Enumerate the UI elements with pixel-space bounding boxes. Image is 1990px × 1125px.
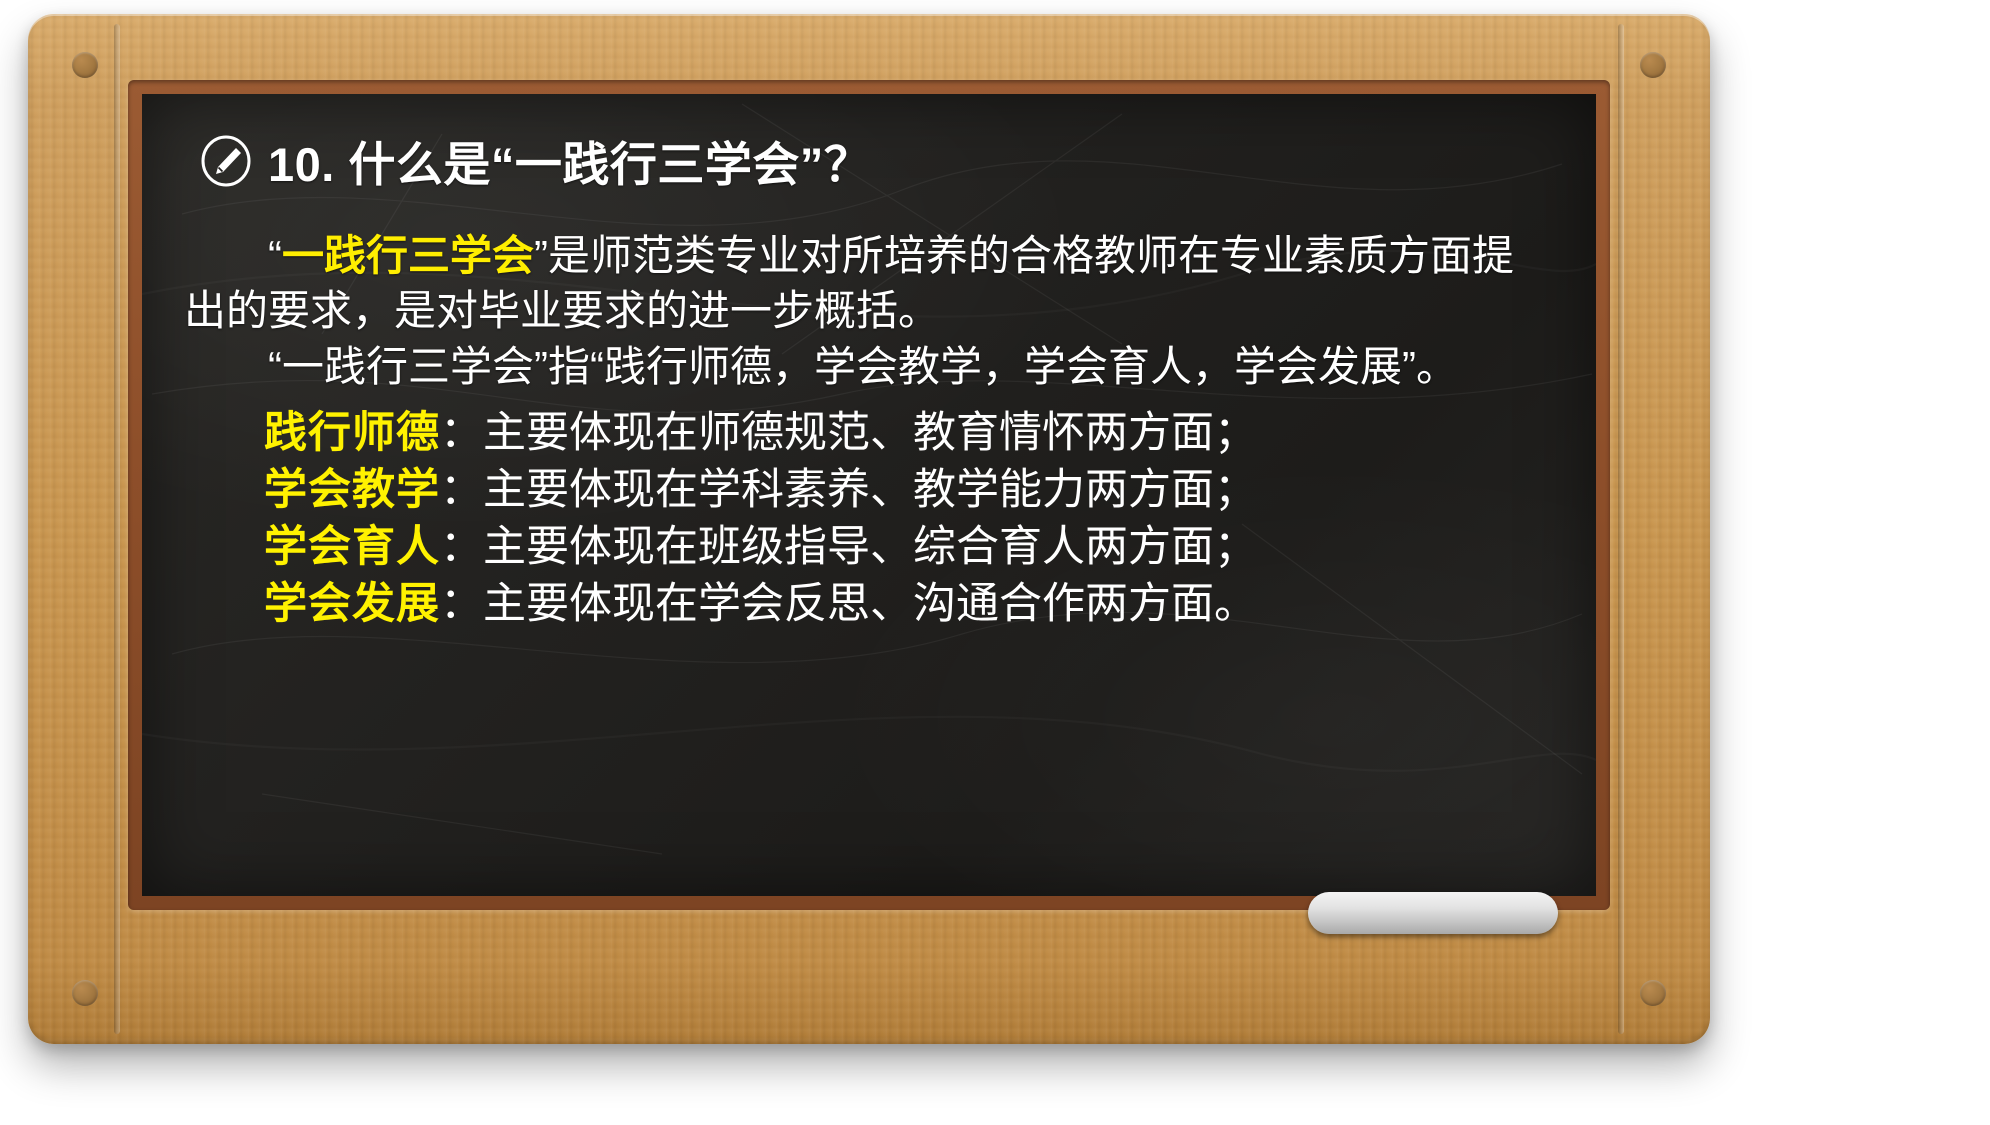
paragraph-text: “一践行三学会”指“践行师德，学会教学，学会育人，学会发展”。 [268,343,1458,390]
slide-stage: 10. 什么是“一践行三学会”？ “一践行三学会”是师范类专业对所培养的合格教师… [0,0,1990,1125]
definition-colon: ： [440,466,483,514]
slide-title-row: 10. 什么是“一践行三学会”？ [200,126,1554,195]
frame-rail-left [114,24,120,1034]
paragraph-1: “一践行三学会”是师范类专业对所培养的合格教师在专业素质方面提出的要求，是对毕业… [184,229,1554,338]
definition-colon: ： [440,580,483,628]
definition-row: 学会育人：主要体现在班级指导、综合育人两方面； [264,519,1554,576]
frame-bolt-top-left [72,52,98,78]
frame-bolt-bottom-right [1640,980,1666,1006]
definition-colon: ： [440,523,483,571]
paragraph-text: “ [268,232,282,279]
definition-row: 学会教学：主要体现在学科素养、教学能力两方面； [264,462,1554,519]
chalkboard-wooden-frame: 10. 什么是“一践行三学会”？ “一践行三学会”是师范类专业对所培养的合格教师… [28,14,1710,1044]
frame-bolt-bottom-left [72,980,98,1006]
definition-body: 主要体现在学科素养、教学能力两方面； [483,466,1257,514]
pencil-circle-icon [200,135,252,187]
slide-body: “一践行三学会”是师范类专业对所培养的合格教师在专业素质方面提出的要求，是对毕业… [184,229,1554,395]
definition-body: 主要体现在班级指导、综合育人两方面； [483,523,1257,571]
definition-colon: ： [440,409,483,457]
slide-content: 10. 什么是“一践行三学会”？ “一践行三学会”是师范类专业对所培养的合格教师… [142,94,1596,896]
definition-body: 主要体现在学会反思、沟通合作两方面。 [483,580,1257,628]
definition-list: 践行师德：主要体现在师德规范、教育情怀两方面；学会教学：主要体现在学科素养、教学… [184,405,1554,634]
definition-row: 践行师德：主要体现在师德规范、教育情怀两方面； [264,405,1554,462]
paragraph-2: “一践行三学会”指“践行师德，学会教学，学会育人，学会发展”。 [184,340,1554,395]
definition-term: 学会教学 [264,466,440,514]
frame-rail-right [1618,24,1624,1034]
chalk-eraser [1308,892,1558,934]
definition-term: 学会育人 [264,523,440,571]
highlighted-term: 一践行三学会 [282,232,534,279]
definition-term: 学会发展 [264,580,440,628]
definition-term: 践行师德 [264,409,440,457]
chalkboard-slate: 10. 什么是“一践行三学会”？ “一践行三学会”是师范类专业对所培养的合格教师… [142,94,1596,896]
frame-bolt-top-right [1640,52,1666,78]
chalkboard-inner-lip: 10. 什么是“一践行三学会”？ “一践行三学会”是师范类专业对所培养的合格教师… [128,80,1610,910]
definition-row: 学会发展：主要体现在学会反思、沟通合作两方面。 [264,576,1554,633]
page-title: 10. 什么是“一践行三学会”？ [268,126,871,195]
definition-body: 主要体现在师德规范、教育情怀两方面； [483,409,1257,457]
